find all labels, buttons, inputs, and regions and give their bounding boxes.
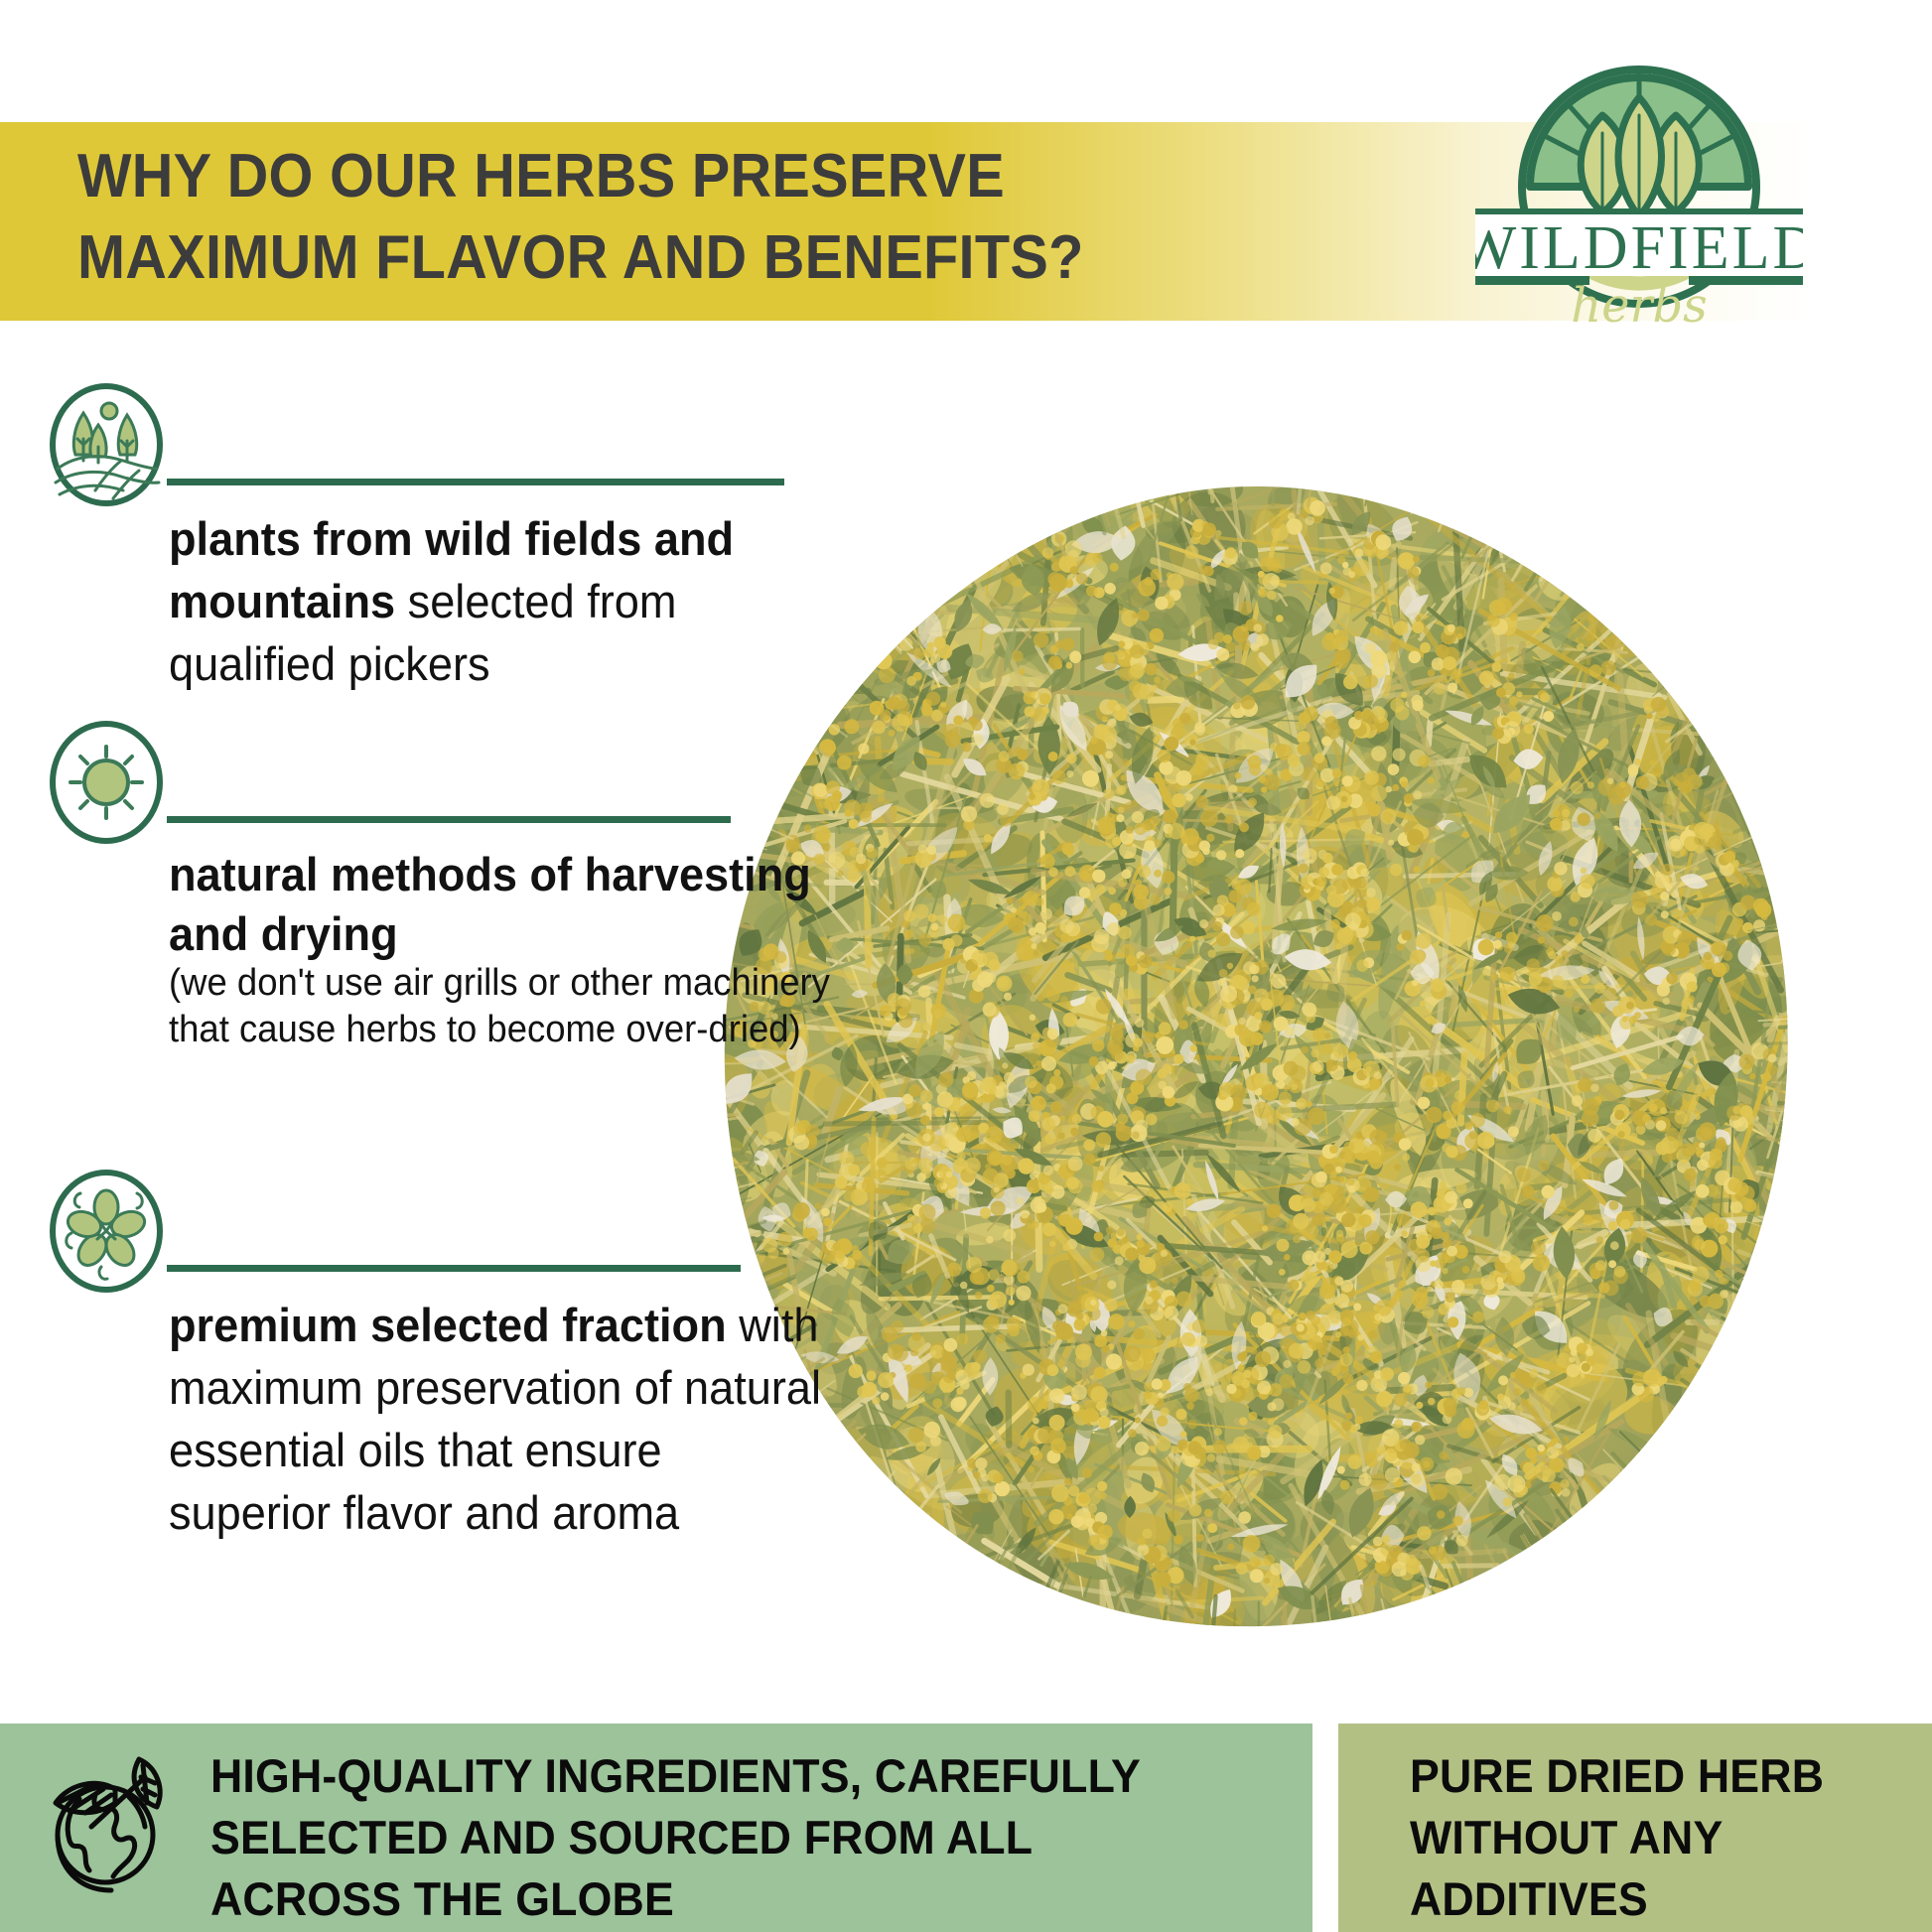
feature-2-bold-line-3: drying (261, 907, 398, 960)
feature-3-bold-line-1: premium selected (169, 1299, 550, 1351)
bottom-banner-right-text: PURE DRIED HERB WITHOUT ANY ADDITIVES (1410, 1745, 1900, 1930)
feature-text-premium-fraction: premium selected fraction with maximum p… (169, 1294, 836, 1544)
feature-divider-rule (167, 816, 731, 823)
feature-2-parenthetical: (we don't use air grills or other machin… (169, 960, 836, 1053)
flower-drops-icon (48, 1170, 165, 1293)
feature-divider-rule (167, 479, 784, 485)
sun-icon (48, 721, 165, 844)
herb-pile-illustration (695, 467, 1817, 1638)
feature-text-natural-methods: natural methods of harvesting and drying… (169, 845, 836, 1053)
feature-2-bold-line-1: natural methods (169, 848, 517, 900)
feature-text-wild-fields: plants from wild fields and mountains se… (169, 507, 836, 695)
feature-3-bold-line-2: fraction (562, 1299, 726, 1351)
bottom-banner-left-text: HIGH-QUALITY INGREDIENTS, CAREFULLY SELE… (210, 1745, 1239, 1930)
dried-herb-photo (695, 467, 1817, 1638)
logo-wordmark: WILDFIELD (1475, 214, 1803, 282)
field-with-trees-icon (48, 383, 165, 506)
feature-divider-rule (167, 1265, 741, 1272)
brand-logo: WILDFIELD herbs (1475, 38, 1803, 326)
brand-logo-svg: WILDFIELD herbs (1475, 38, 1803, 326)
logo-subwordmark: herbs (1571, 278, 1708, 326)
page-title: WHY DO OUR HERBS PRESERVE MAXIMUM FLAVOR… (77, 136, 1314, 299)
feature-1-bold-line-1: plants from wild fields (169, 512, 641, 565)
globe-with-leaf-icon (34, 1731, 183, 1900)
